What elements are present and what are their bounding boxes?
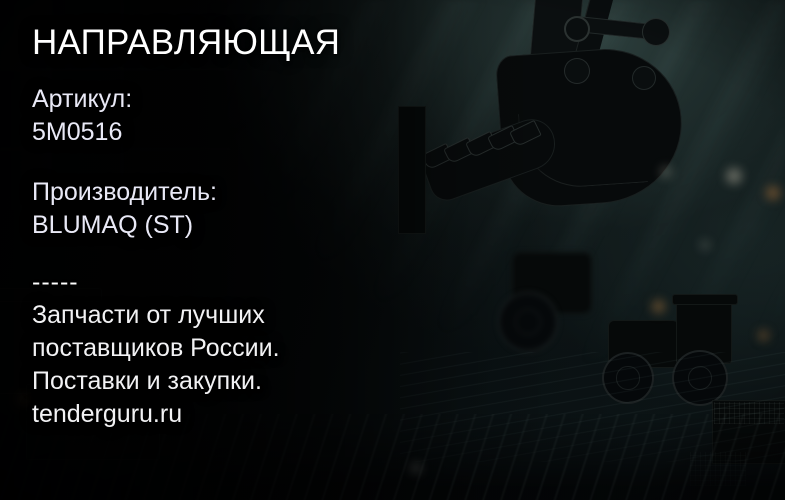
bokeh-light — [766, 186, 780, 200]
manufacturer-value: BLUMAQ (ST) — [32, 209, 217, 242]
bokeh-light — [726, 168, 742, 184]
bokeh-light — [410, 462, 422, 474]
tagline-line: поставщиков России. — [32, 332, 280, 365]
bokeh-light — [700, 240, 710, 250]
tagline-line: Поставки и закупки. — [32, 365, 280, 398]
article-value: 5M0516 — [32, 116, 132, 149]
manufacturer-block: Производитель: BLUMAQ (ST) — [32, 176, 217, 242]
background-frame-post — [398, 106, 426, 234]
bokeh-light — [652, 300, 665, 313]
product-card: НАПРАВЛЯЮЩАЯ Артикул: 5M0516 Производите… — [0, 0, 785, 500]
bokeh-light — [16, 392, 31, 407]
divider: ----- — [32, 269, 79, 295]
page-title: НАПРАВЛЯЮЩАЯ — [32, 22, 340, 64]
wheel-loader-canopy — [672, 294, 738, 305]
manufacturer-label: Производитель: — [32, 176, 217, 209]
article-block: Артикул: 5M0516 — [32, 83, 132, 149]
site-url: tenderguru.ru — [32, 398, 280, 431]
background-tractor-wheel — [498, 292, 558, 352]
tagline-block: Запчасти от лучших поставщиков России. П… — [32, 299, 280, 431]
excavator-bucket-icon — [404, 0, 785, 234]
bokeh-light — [660, 166, 672, 178]
tagline-line: Запчасти от лучших — [32, 299, 280, 332]
article-label: Артикул: — [32, 83, 132, 116]
bokeh-light — [758, 330, 769, 341]
